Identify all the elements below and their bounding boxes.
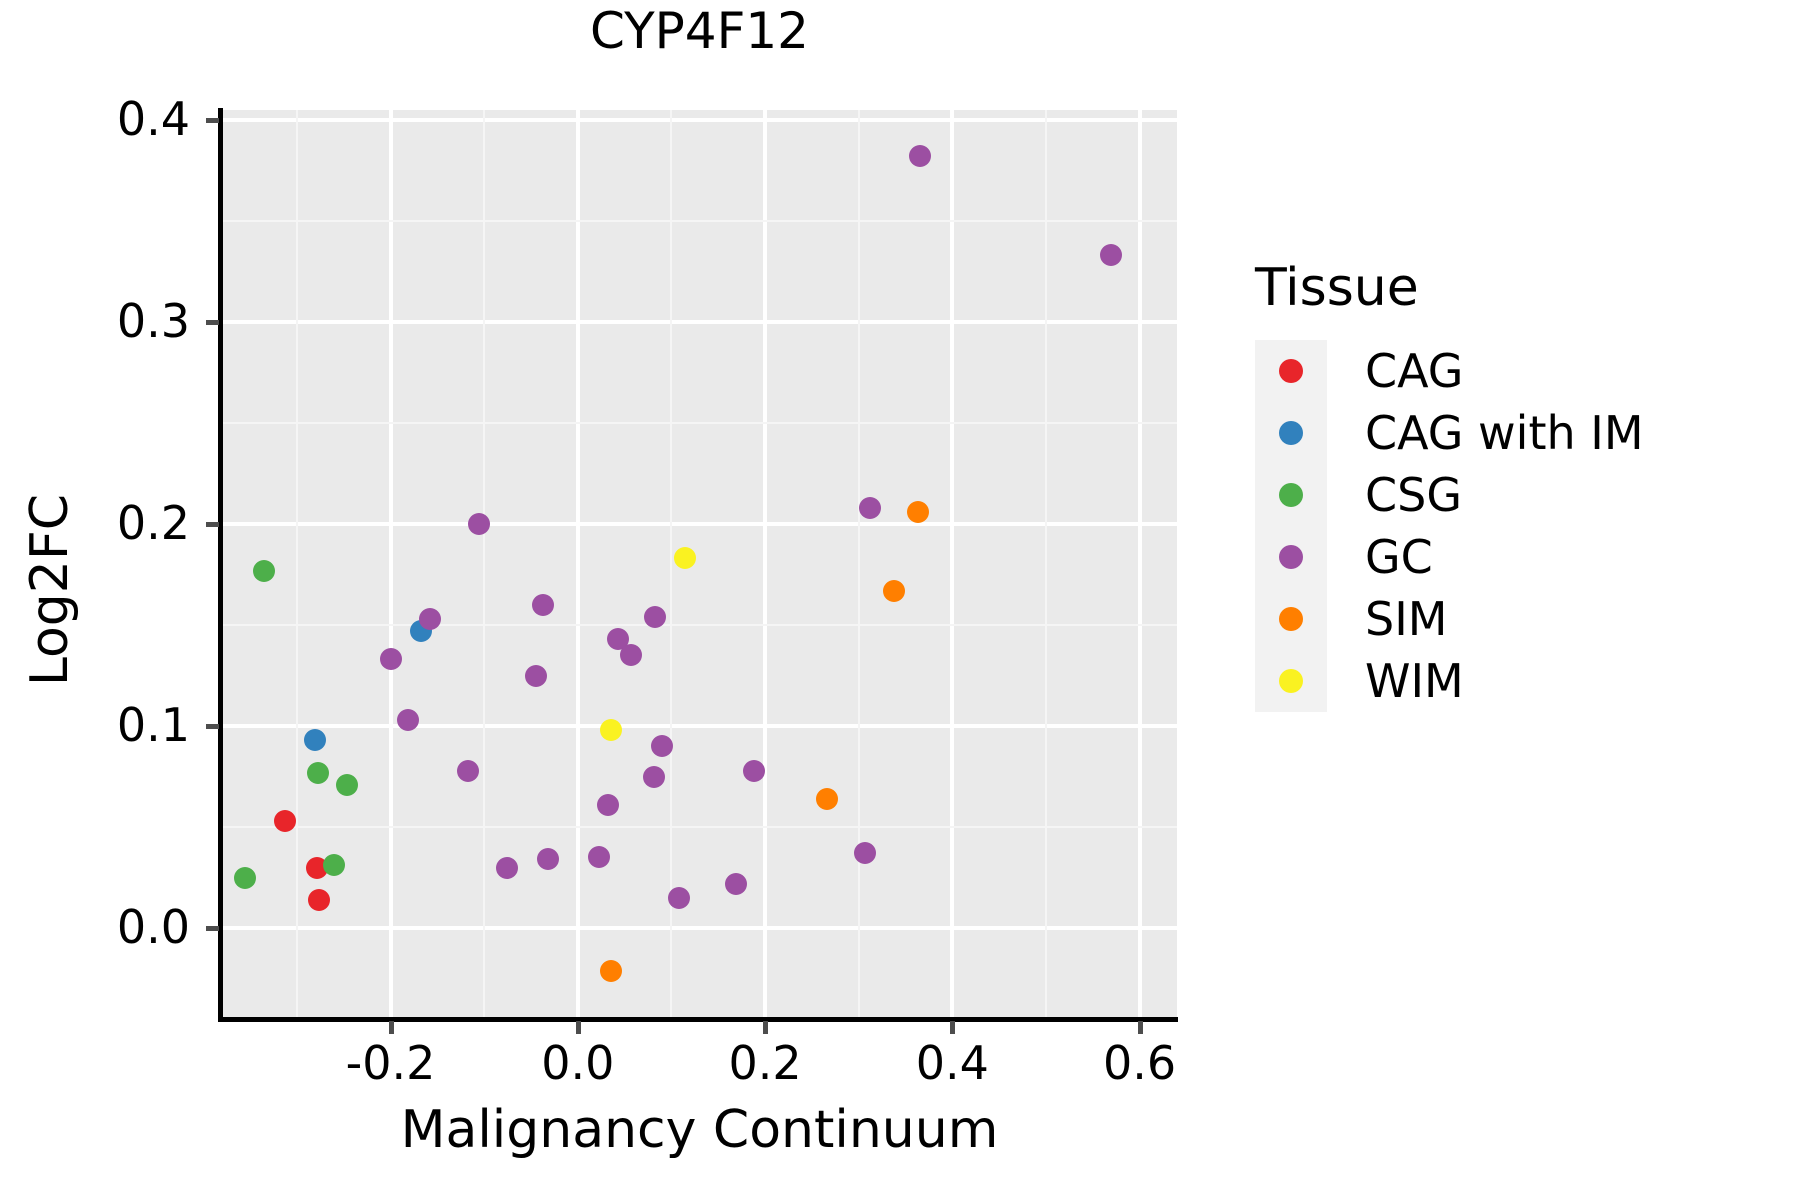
data-point-cag-with-im (304, 729, 326, 751)
legend-dot-icon (1279, 669, 1303, 693)
x-tick (1138, 1021, 1143, 1034)
data-point-csg (253, 560, 275, 582)
legend-item-label: CSG (1365, 472, 1462, 518)
x-tick-label: 0.6 (1040, 1040, 1240, 1086)
legend: Tissue CAGCAG with IMCSGGCSIMWIM (1255, 258, 1775, 712)
y-tick-label: 0.4 (117, 96, 190, 142)
gridline-horizontal (222, 320, 1177, 324)
legend-key (1255, 545, 1327, 569)
data-point-csg (307, 762, 329, 784)
data-point-gc (380, 648, 402, 670)
plot-panel (222, 110, 1177, 1019)
legend-item-label: SIM (1365, 596, 1447, 642)
legend-key (1255, 669, 1327, 693)
gridline-vertical-minor (296, 110, 298, 1019)
y-axis-label: Log2FC (20, 390, 80, 790)
x-tick (576, 1021, 581, 1034)
data-point-sim (907, 501, 929, 523)
legend-dot-icon (1279, 545, 1303, 569)
x-tick (389, 1021, 394, 1034)
data-point-csg (336, 774, 358, 796)
gridline-vertical-minor (1045, 110, 1047, 1019)
data-point-gc (537, 848, 559, 870)
data-point-sim (883, 580, 905, 602)
legend-title: Tissue (1255, 258, 1775, 318)
data-point-gc (532, 594, 554, 616)
data-point-gc (725, 873, 747, 895)
x-tick (950, 1021, 955, 1034)
legend-item-gc[interactable]: GC (1255, 526, 1775, 588)
y-tick (206, 926, 219, 931)
gridline-vertical-minor (858, 110, 860, 1019)
y-tick (206, 522, 219, 527)
y-tick (206, 724, 219, 729)
data-point-gc (620, 644, 642, 666)
data-point-gc (859, 497, 881, 519)
data-point-gc (597, 794, 619, 816)
x-axis-label: Malignancy Continuum (222, 1100, 1177, 1160)
data-point-gc (743, 760, 765, 782)
gridline-horizontal (222, 724, 1177, 728)
legend-item-label: CAG with IM (1365, 410, 1644, 456)
legend-key (1255, 483, 1327, 507)
gridline-horizontal (222, 118, 1177, 122)
data-point-gc (668, 887, 690, 909)
data-point-sim (600, 960, 622, 982)
x-tick-label: 0.2 (665, 1040, 865, 1086)
gridline-horizontal-minor (222, 624, 1177, 626)
data-point-csg (234, 867, 256, 889)
gridline-horizontal-minor (222, 826, 1177, 828)
data-point-gc (1100, 244, 1122, 266)
gridline-vertical (576, 110, 580, 1019)
data-point-gc (457, 760, 479, 782)
data-point-sim (816, 788, 838, 810)
data-point-gc (496, 857, 518, 879)
data-point-gc (468, 513, 490, 535)
legend-dot-icon (1279, 607, 1303, 631)
y-tick (206, 118, 219, 123)
data-point-cag (274, 810, 296, 832)
chart-root: CYP4F12 0.00.10.20.30.4-0.20.00.20.40.6 … (0, 0, 1800, 1200)
y-tick-label: 0.0 (117, 904, 190, 950)
data-point-gc (419, 608, 441, 630)
data-point-cag (308, 889, 330, 911)
legend-key (1255, 359, 1327, 383)
legend-dot-icon (1279, 483, 1303, 507)
gridline-vertical-minor (483, 110, 485, 1019)
data-point-gc (588, 846, 610, 868)
data-point-wim (600, 719, 622, 741)
x-tick (763, 1021, 768, 1034)
gridline-vertical (950, 110, 954, 1019)
legend-item-wim[interactable]: WIM (1255, 650, 1775, 712)
legend-dot-icon (1279, 421, 1303, 445)
legend-item-label: WIM (1365, 658, 1464, 704)
legend-item-cag[interactable]: CAG (1255, 340, 1775, 402)
y-tick (206, 320, 219, 325)
data-point-gc (854, 842, 876, 864)
legend-items: CAGCAG with IMCSGGCSIMWIM (1255, 340, 1775, 712)
x-tick-label: -0.2 (291, 1040, 491, 1086)
page-title: CYP4F12 (222, 6, 1177, 56)
legend-item-csg[interactable]: CSG (1255, 464, 1775, 526)
data-point-csg (323, 854, 345, 876)
legend-key (1255, 421, 1327, 445)
data-point-gc (525, 665, 547, 687)
x-tick-label: 0.0 (478, 1040, 678, 1086)
legend-item-label: CAG (1365, 348, 1463, 394)
x-tick-label: 0.4 (852, 1040, 1052, 1086)
gridline-horizontal-minor (222, 422, 1177, 424)
gridline-vertical-minor (670, 110, 672, 1019)
gridline-horizontal (222, 522, 1177, 526)
data-point-gc (643, 766, 665, 788)
x-axis-line (218, 1017, 1178, 1022)
y-tick-label: 0.1 (117, 702, 190, 748)
legend-item-sim[interactable]: SIM (1255, 588, 1775, 650)
y-tick-label: 0.2 (117, 500, 190, 546)
gridline-horizontal (222, 926, 1177, 930)
gridline-horizontal-minor (222, 220, 1177, 222)
legend-item-label: GC (1365, 534, 1433, 580)
gridline-vertical (389, 110, 393, 1019)
data-point-gc (909, 145, 931, 167)
data-point-wim (674, 547, 696, 569)
y-tick-label: 0.3 (117, 298, 190, 344)
gridline-vertical (1138, 110, 1142, 1019)
y-axis-line (218, 108, 223, 1021)
legend-item-cag-with-im[interactable]: CAG with IM (1255, 402, 1775, 464)
legend-key (1255, 607, 1327, 631)
legend-dot-icon (1279, 359, 1303, 383)
data-point-gc (644, 606, 666, 628)
gridline-vertical (763, 110, 767, 1019)
